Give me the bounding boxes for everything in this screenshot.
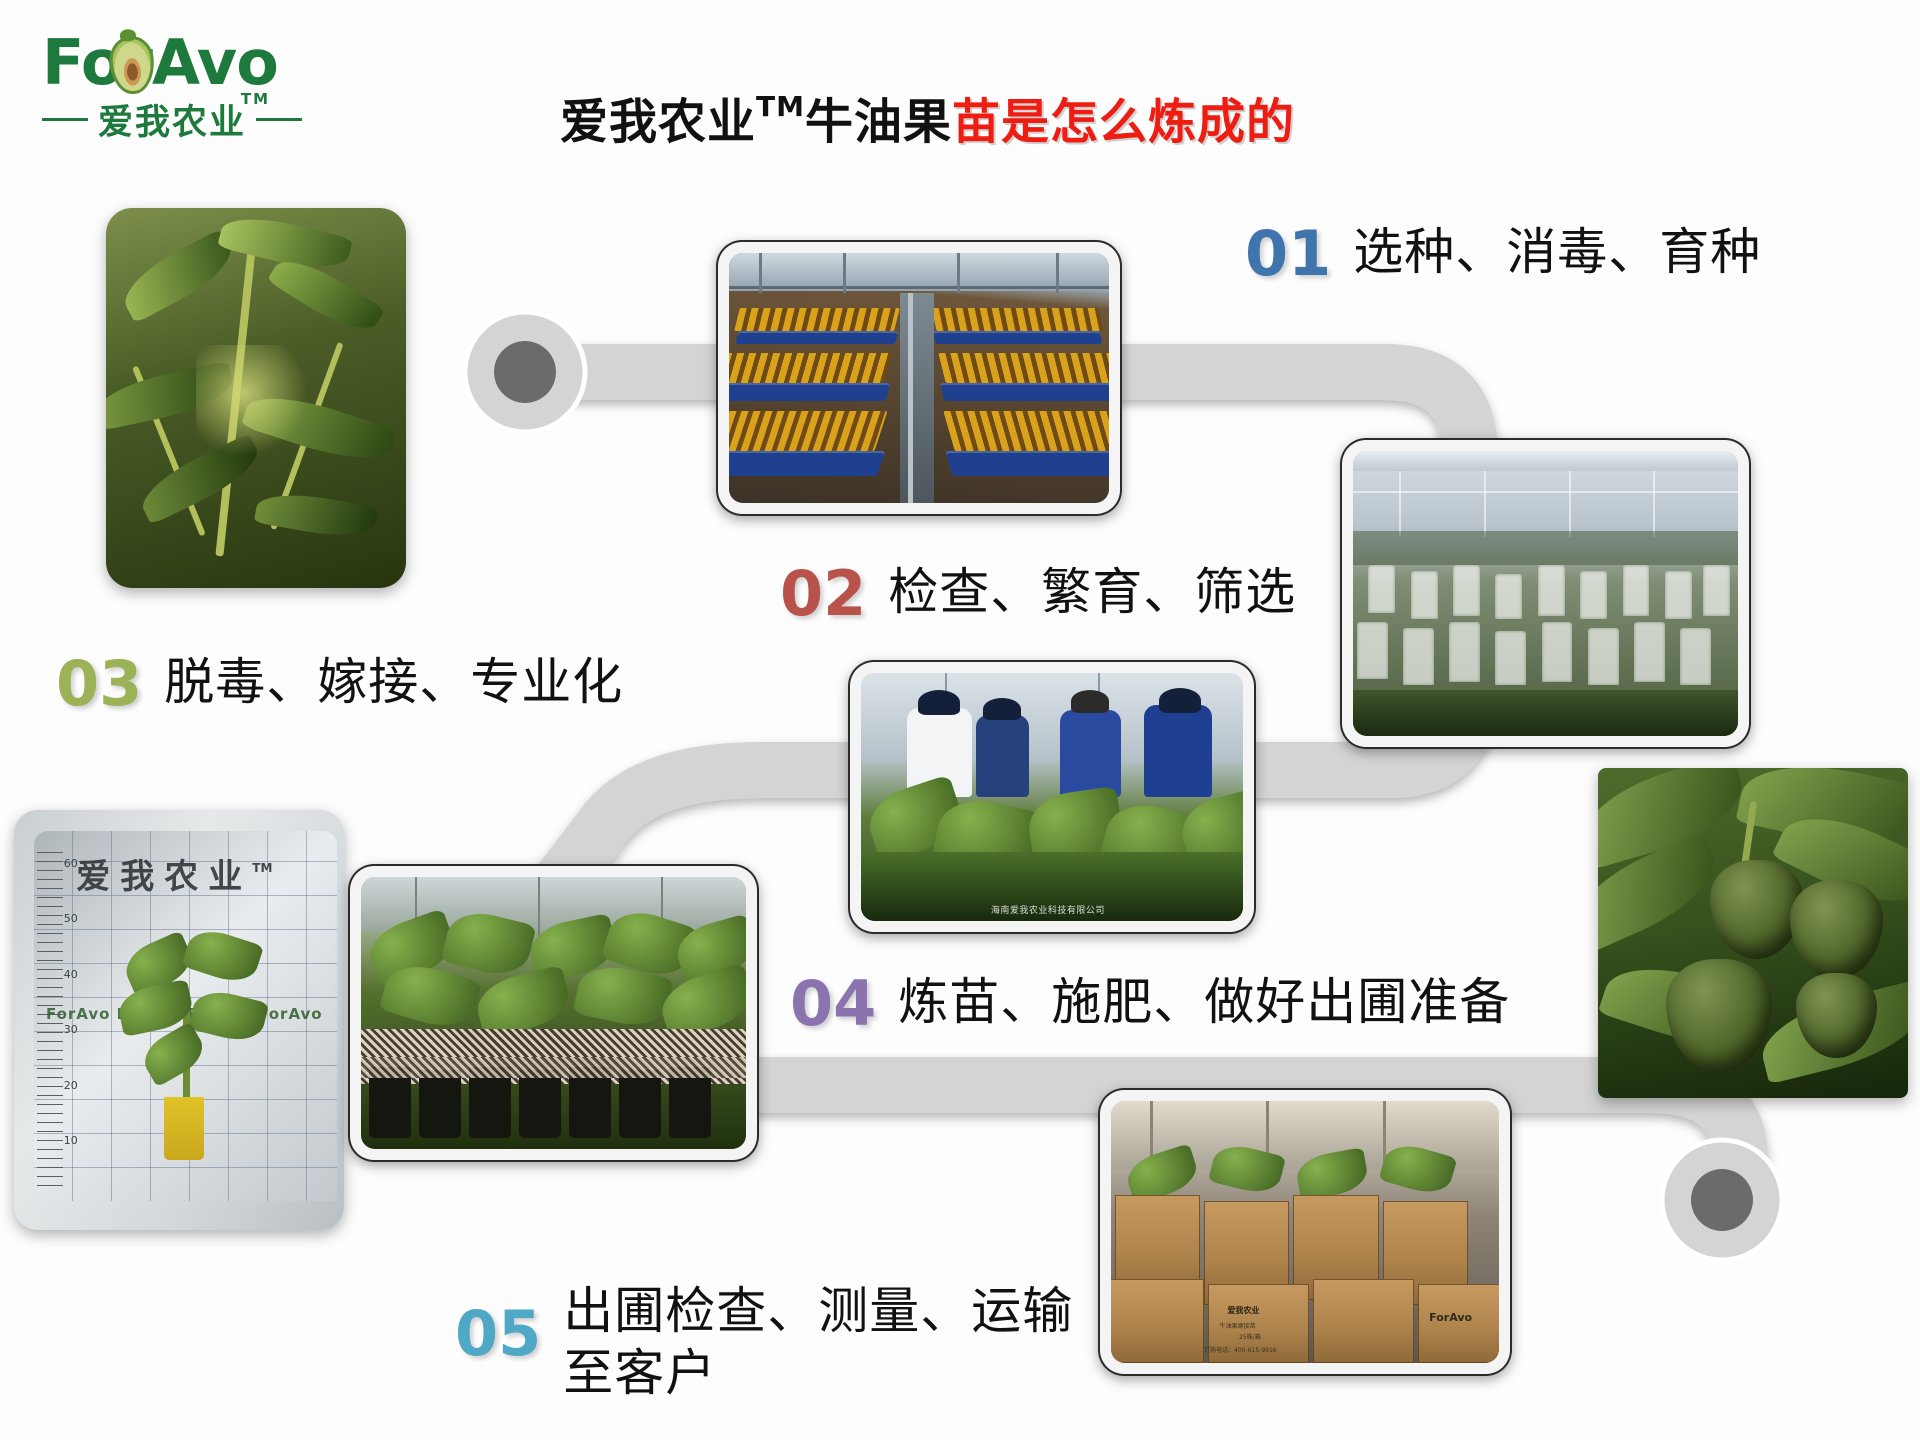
avocado-fruit	[1710, 860, 1803, 959]
step-05-label: 出圃检查、测量、运输 至客户	[563, 1280, 1073, 1404]
fruit-on-tree-photo	[1598, 768, 1908, 1098]
step-05-number: 05	[455, 1302, 541, 1366]
end-node	[1662, 1140, 1782, 1260]
potted-seedlings-photo	[348, 864, 759, 1162]
ruler-tick-50: 50	[64, 912, 78, 925]
title-highlight: 苗是怎么炼成的	[952, 94, 1295, 150]
step-04: 04 炼苗、施肥、做好出圃准备	[790, 972, 1510, 1036]
ruler-tick-10: 10	[64, 1134, 78, 1147]
infographic-canvas: ForAvo 爱我农业 TM 爱我农业TM牛油果苗是怎么炼成的	[0, 0, 1920, 1440]
logo-subtitle: 爱我农业 TM	[42, 96, 342, 142]
shipping-boxes-photo: 爱我农业 牛油果嫁接苗 25株/箱 订购电话：400-615-9916 ForA…	[1098, 1088, 1512, 1376]
step-03-label: 脱毒、嫁接、专业化	[164, 652, 623, 712]
title-lead: 爱我农业	[560, 94, 756, 150]
step-02: 02 检查、繁育、筛选	[780, 562, 1296, 626]
step-03-number: 03	[56, 652, 142, 716]
logo-wordmark-text: ForAvo	[42, 30, 278, 96]
title-mid: 牛油果	[805, 94, 952, 150]
brand-logo: ForAvo 爱我农业 TM	[42, 30, 342, 150]
title-tm-mark: TM	[756, 90, 805, 123]
box-phone-label: 订购电话：400-615-9916	[1204, 1345, 1277, 1354]
step-02-label: 检查、繁育、筛选	[888, 562, 1296, 622]
avocado-fruit	[1790, 880, 1883, 979]
logo-wordmark: ForAvo	[42, 30, 342, 98]
greenhouse-bags-photo	[1340, 438, 1751, 749]
board-watermark: 爱我农业TM	[76, 849, 272, 898]
step-02-number: 02	[780, 562, 866, 626]
avocado-fruit	[1666, 959, 1771, 1071]
seed-trays-photo	[716, 240, 1122, 516]
box-qty-label: 25株/箱	[1239, 1332, 1261, 1341]
box-product-label: 牛油果嫁接苗	[1220, 1321, 1256, 1330]
step-04-label: 炼苗、施肥、做好出圃准备	[898, 972, 1510, 1032]
ruler-tick-20: 20	[64, 1079, 78, 1092]
ruler-tick-30: 30	[64, 1023, 78, 1036]
step-05: 05 出圃检查、测量、运输 至客户	[455, 1280, 1073, 1404]
logo-rule-right	[256, 118, 302, 121]
step-01-number: 01	[1245, 222, 1331, 286]
step-03: 03 脱毒、嫁接、专业化	[56, 652, 623, 716]
flowering-branch-photo	[106, 208, 406, 588]
ruler-tick-40: 40	[64, 968, 78, 981]
inspection-team-photo: 海南爱我农业科技有限公司	[848, 660, 1256, 934]
page-title: 爱我农业TM牛油果苗是怎么炼成的	[560, 76, 1380, 153]
logo-rule-left	[42, 118, 88, 121]
box-brand-label: 爱我农业	[1227, 1305, 1259, 1316]
logo-chinese-name: 爱我农业 TM	[98, 94, 246, 145]
step-01-label: 选种、消毒、育种	[1353, 222, 1761, 282]
photo-watermark: 海南爱我农业科技有限公司	[991, 903, 1105, 916]
box-side-label: ForAvo	[1429, 1311, 1472, 1324]
step-01: 01 选种、消毒、育种	[1245, 222, 1761, 286]
yellow-pot	[164, 1097, 203, 1160]
logo-tm-mark: TM	[241, 90, 270, 108]
measuring-board-photo: 60 50 40 30 20 10 爱我农业TM ForAvo ForAvo F…	[14, 810, 344, 1230]
start-node	[465, 312, 585, 432]
step-04-number: 04	[790, 972, 876, 1036]
